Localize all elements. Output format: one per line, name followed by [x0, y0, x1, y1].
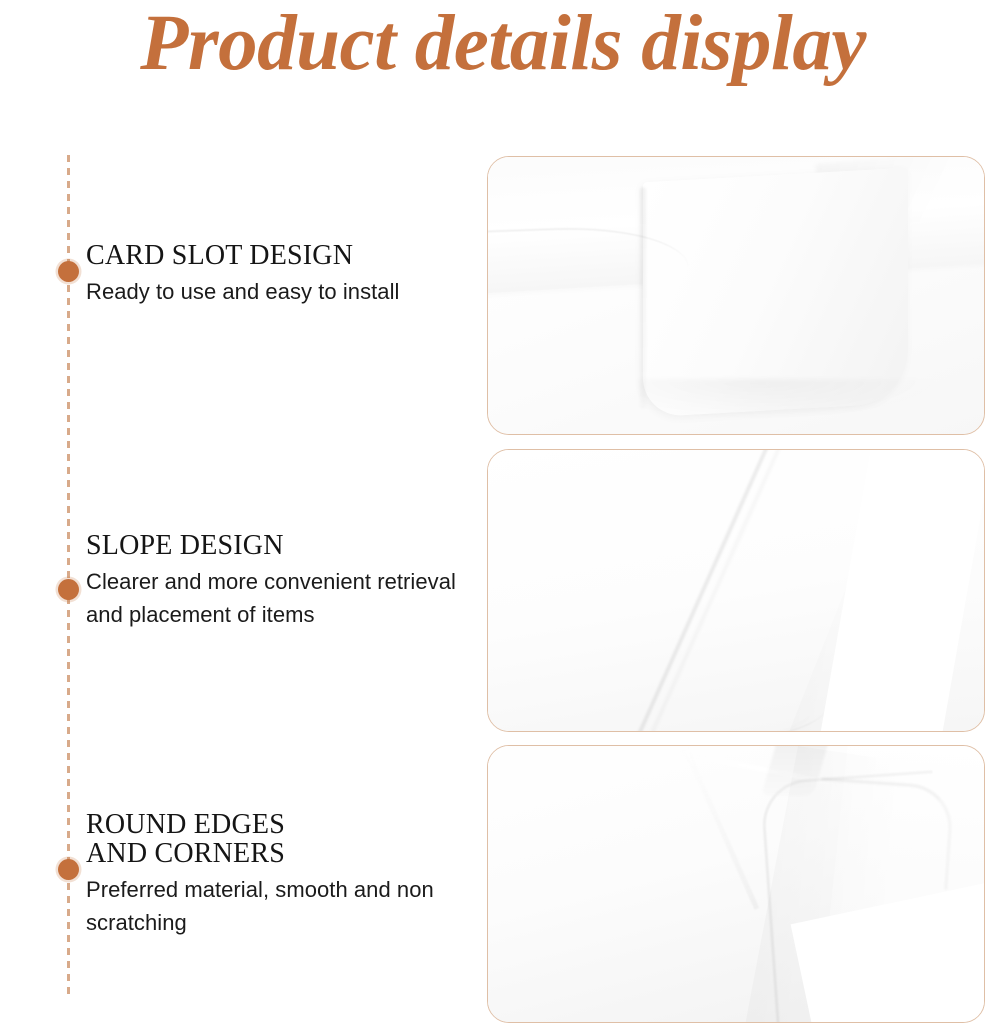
card-slot-edge: [640, 187, 646, 409]
product-photo-round-edges-and-corners: [487, 745, 985, 1023]
page-title: Product details display: [0, 0, 1006, 94]
feature-title: CARD SLOT DESIGN: [86, 241, 486, 270]
feature-title: SLOPE DESIGN: [86, 531, 486, 560]
feature-title: ROUND EDGES AND CORNERS: [86, 810, 486, 868]
feature-description: Preferred material, smooth and non scrat…: [86, 873, 486, 939]
feature-block-round-edges-and-corners: ROUND EDGES AND CORNERS Preferred materi…: [86, 810, 486, 939]
product-photo-card-slot-design: [487, 156, 985, 435]
photo-artwork: [488, 746, 984, 1022]
photo-artwork: [488, 450, 984, 731]
timeline-bullet-1: [58, 261, 79, 282]
bin-shadow: [638, 379, 938, 419]
bin-lower-curve-secondary: [488, 666, 813, 731]
product-photo-slope-design: [487, 449, 985, 732]
feature-description: Ready to use and easy to install: [86, 275, 486, 308]
bin-rounded-corner: [815, 777, 955, 889]
timeline-bullet-3: [58, 859, 79, 880]
timeline-bullet-2: [58, 579, 79, 600]
feature-block-slope-design: SLOPE DESIGN Clearer and more convenient…: [86, 531, 486, 631]
feature-block-card-slot-design: CARD SLOT DESIGN Ready to use and easy t…: [86, 241, 486, 308]
feature-description: Clearer and more convenient retrieval an…: [86, 565, 486, 631]
photo-artwork: [488, 157, 984, 434]
